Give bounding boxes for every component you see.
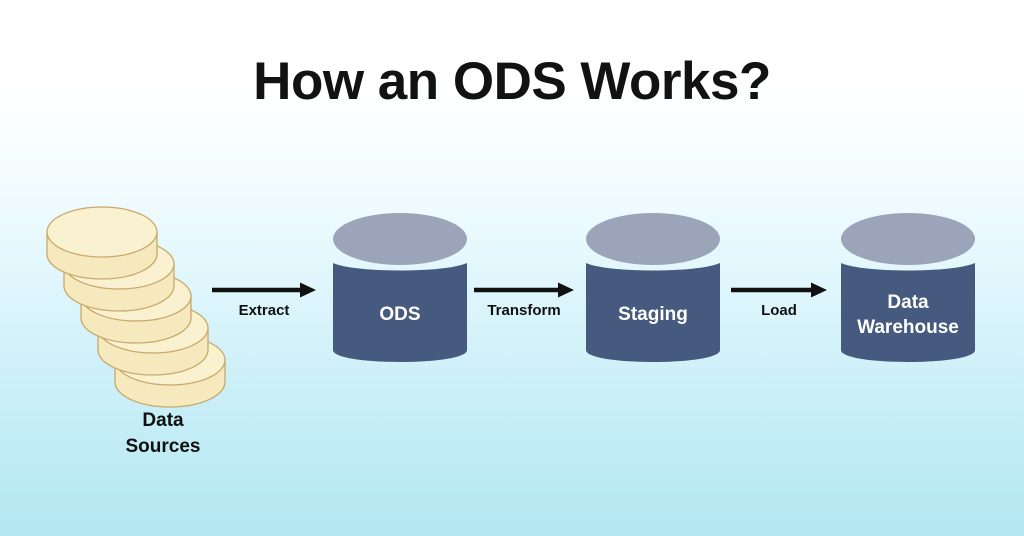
cylinder-shape — [583, 210, 723, 375]
arrow-transform: Transform — [474, 281, 574, 337]
arrow-load-label: Load — [731, 301, 827, 321]
arrow-right-icon — [474, 281, 574, 299]
arrow-transform-label: Transform — [474, 301, 574, 321]
data-sources-stack — [46, 206, 236, 398]
cylinder-shape — [330, 210, 470, 375]
arrow-right-icon — [731, 281, 827, 299]
node-staging[interactable]: Staging — [583, 210, 723, 375]
arrow-extract: Extract — [212, 281, 316, 337]
data-sources-label: Data Sources — [78, 408, 248, 460]
page-title: How an ODS Works? — [0, 52, 1024, 112]
node-data-warehouse[interactable]: Data Warehouse — [838, 210, 978, 375]
node-data-warehouse-label: Data Warehouse — [838, 290, 978, 340]
arrow-load: Load — [731, 281, 827, 337]
node-ods[interactable]: ODS — [330, 210, 470, 375]
data-source-disk — [46, 206, 158, 284]
arrow-extract-label: Extract — [212, 301, 316, 321]
arrow-right-icon — [212, 281, 316, 299]
data-sources-label-line2: Sources — [78, 434, 248, 460]
diagram-canvas: How an ODS Works? — [0, 0, 1024, 536]
node-data-warehouse-label-line2: Warehouse — [838, 315, 978, 340]
node-ods-label: ODS — [330, 302, 470, 327]
node-data-warehouse-label-line1: Data — [838, 290, 978, 315]
node-staging-label: Staging — [583, 302, 723, 327]
